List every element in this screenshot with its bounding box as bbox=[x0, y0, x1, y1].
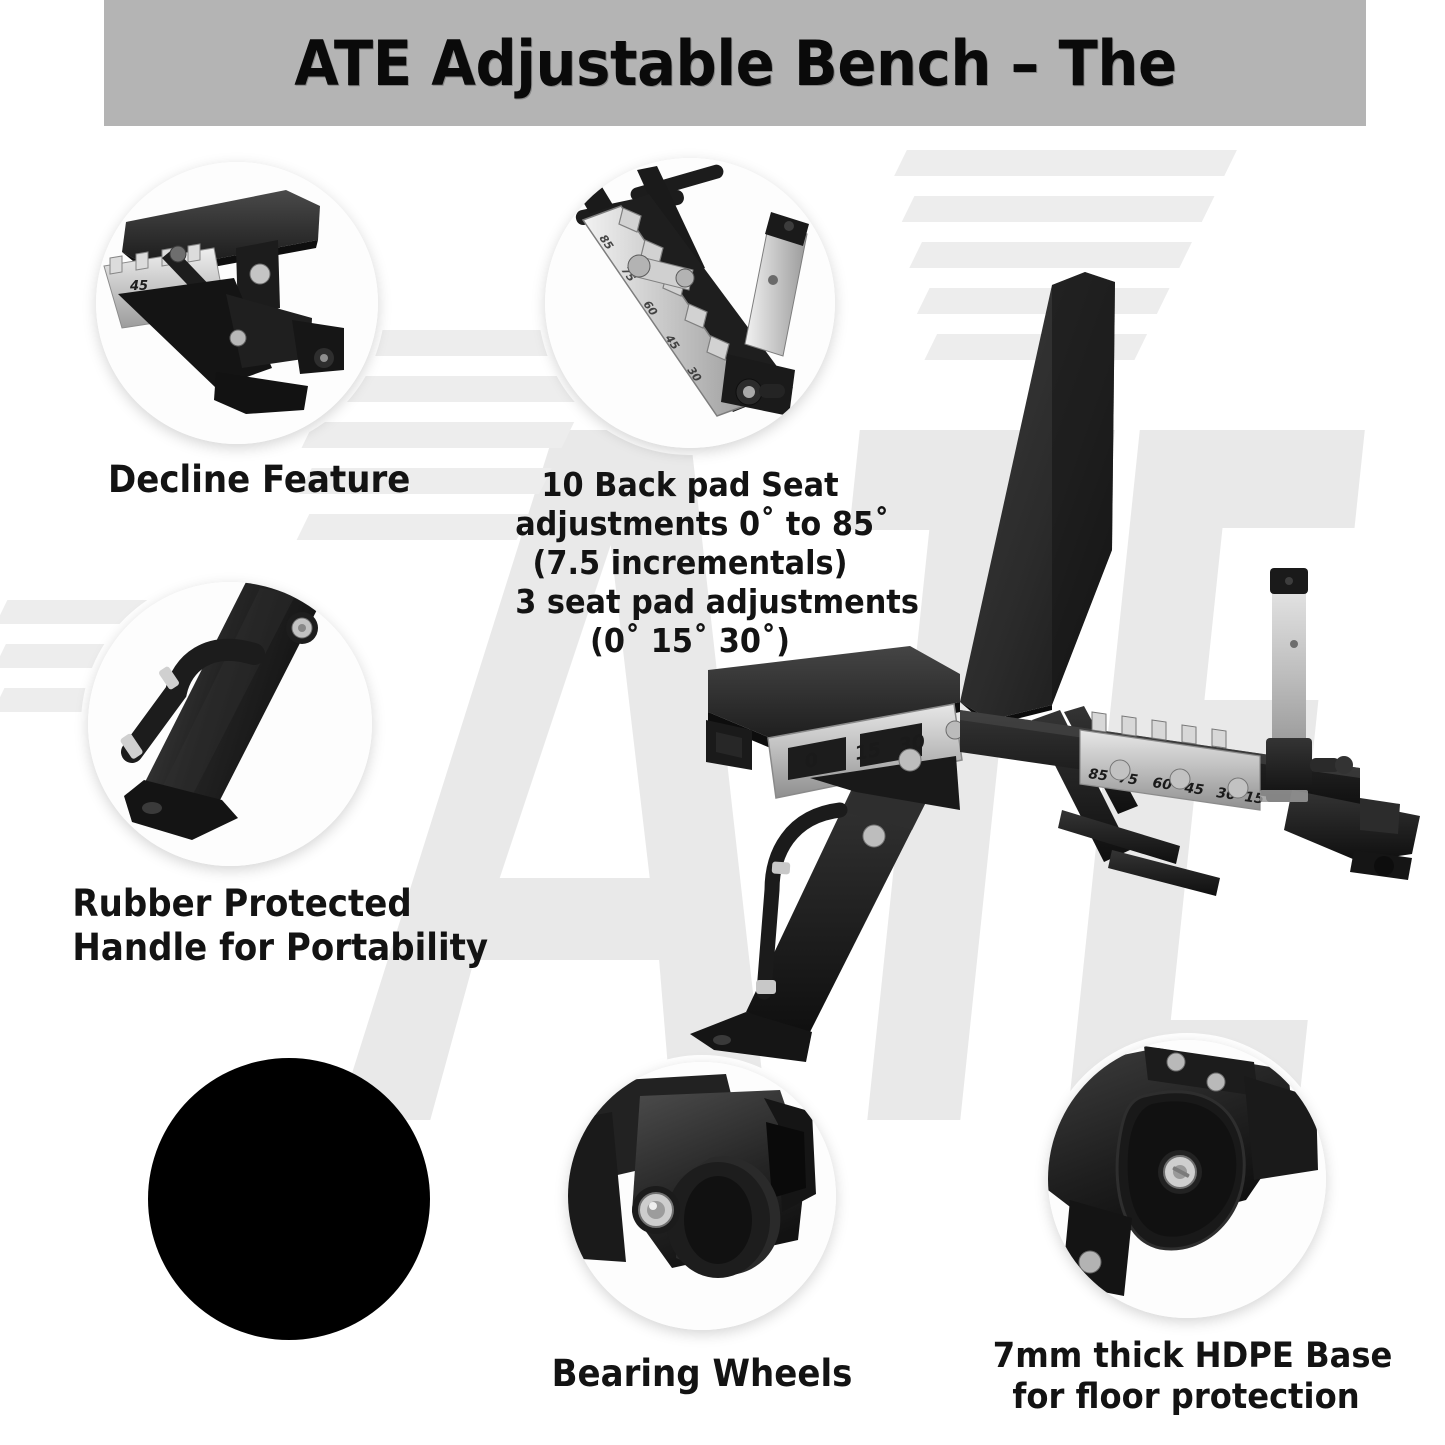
rear-adjust-post bbox=[1266, 568, 1353, 802]
ladder-mechanism-photo: 85 75 60 45 30 bbox=[545, 158, 835, 448]
callout-rubber-handle: Rubber Protected Handle for Portability bbox=[88, 582, 388, 969]
hdpe-base-photo bbox=[1048, 1040, 1326, 1318]
callout-back-pad-caption: 10 Back pad Seat adjustments 0˚ to 85˚ (… bbox=[515, 466, 865, 661]
handle-ferrule bbox=[772, 861, 791, 874]
callout-decline-caption: Decline Feature bbox=[108, 458, 384, 502]
decline-mechanism-photo: 45 30 15 bbox=[96, 162, 378, 444]
callout-back-pad-adjustments: 85 75 60 45 30 10 Back pad Seat adjustme… bbox=[500, 158, 880, 661]
callout-wheels-caption: Bearing Wheels bbox=[546, 1352, 859, 1396]
callout-hdpe-base: 7mm thick HDPE Base for floor protection bbox=[1048, 1040, 1328, 1419]
bearing-wheel-photo bbox=[568, 1062, 836, 1330]
back-pad bbox=[960, 272, 1115, 726]
back-scale-85: 85 bbox=[1087, 766, 1109, 785]
solid-black-circle bbox=[148, 1058, 430, 1340]
back-pad-angle-ladder: 85 75 60 45 30 15 bbox=[1080, 712, 1265, 810]
seat-scale-15: 15 bbox=[853, 739, 883, 765]
rear-foot bbox=[1284, 790, 1420, 880]
callout-black-circle bbox=[148, 1058, 430, 1340]
callout-hdpe-caption: 7mm thick HDPE Base for floor protection bbox=[993, 1336, 1379, 1419]
rubber-handle-photo bbox=[88, 582, 372, 866]
callout-bearing-wheels: Bearing Wheels bbox=[568, 1062, 838, 1396]
frame-brand-badge bbox=[1260, 790, 1308, 802]
page-title: ATE Adjustable Bench – The bbox=[294, 27, 1176, 100]
callout-handle-caption: Rubber Protected Handle for Portability bbox=[72, 882, 403, 969]
handle-end-cap bbox=[756, 980, 776, 994]
callout-decline-feature: 45 30 15 Decline Feature bbox=[96, 162, 396, 502]
title-banner: ATE Adjustable Bench – The bbox=[104, 0, 1366, 126]
